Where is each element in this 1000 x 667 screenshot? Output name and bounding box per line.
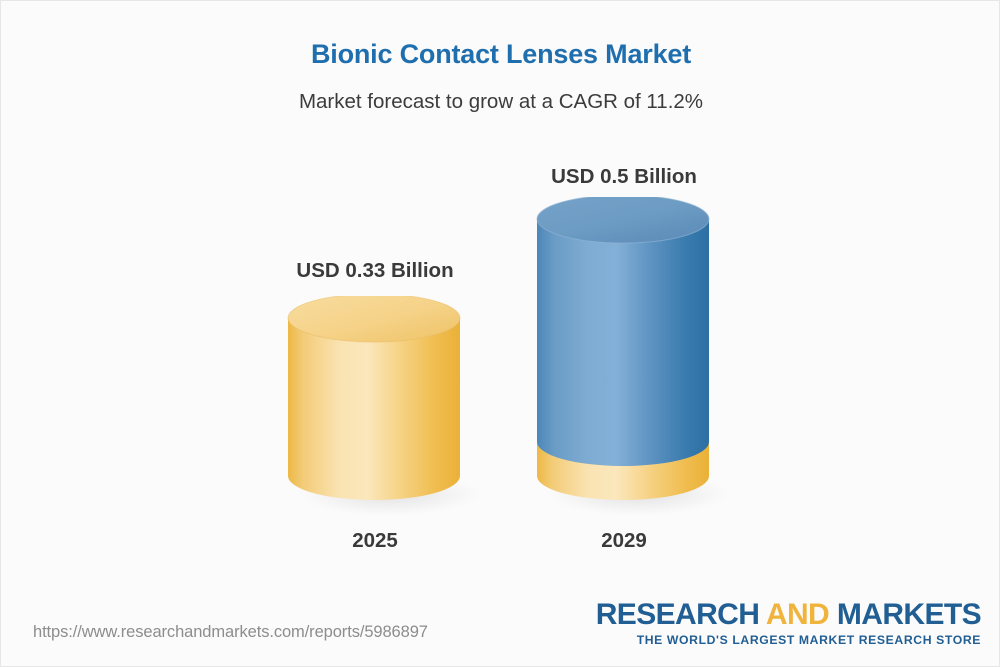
chart-plot-area: USD 0.33 Billion USD 0.5 Billion 2025 20… xyxy=(1,141,1000,571)
page-title: Bionic Contact Lenses Market xyxy=(1,39,1000,70)
bar-body-2025 xyxy=(288,318,460,500)
brand-logo[interactable]: RESEARCH AND MARKETS THE WORLD'S LARGEST… xyxy=(596,599,981,647)
brand-logo-tagline: THE WORLD'S LARGEST MARKET RESEARCH STOR… xyxy=(596,633,981,647)
brand-logo-research: RESEARCH xyxy=(596,598,766,631)
brand-logo-and: AND xyxy=(766,598,837,631)
infographic-canvas: Bionic Contact Lenses Market Market fore… xyxy=(0,0,1000,667)
value-label-2029: USD 0.5 Billion xyxy=(483,165,765,189)
report-url[interactable]: https://www.researchandmarkets.com/repor… xyxy=(33,623,428,642)
brand-logo-markets: MARKETS xyxy=(837,598,981,631)
category-label-2029: 2029 xyxy=(544,529,704,553)
brand-logo-wordmark: RESEARCH AND MARKETS xyxy=(596,599,981,631)
value-label-2025: USD 0.33 Billion xyxy=(234,259,516,283)
bar-cylinder-2029 xyxy=(530,197,730,521)
category-label-2025: 2025 xyxy=(295,529,455,553)
chart-subtitle: Market forecast to grow at a CAGR of 11.… xyxy=(1,90,1000,114)
bar-segment-blue-2029 xyxy=(537,219,709,466)
bar-cylinder-2025 xyxy=(281,296,481,521)
